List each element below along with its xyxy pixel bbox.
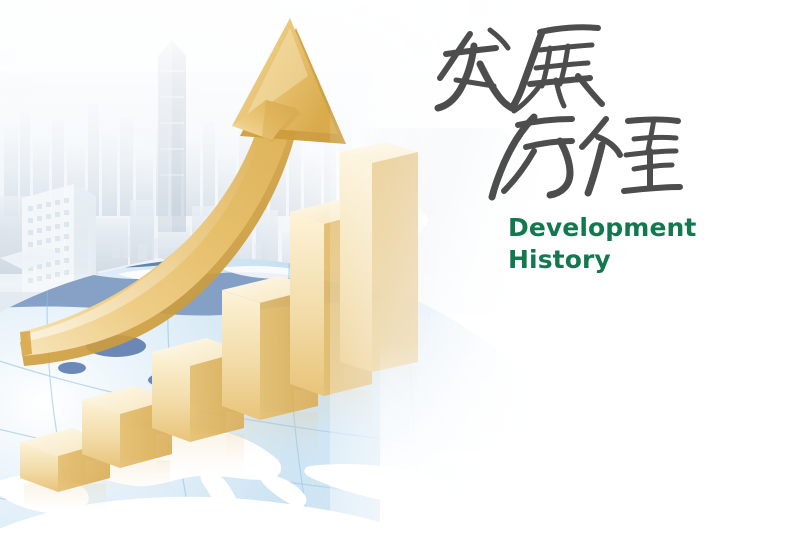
english-title-line-1: Development: [508, 212, 730, 244]
chinese-title-line-2: [488, 107, 730, 202]
english-title-line-2: History: [508, 244, 730, 276]
english-title: Development History: [508, 212, 730, 276]
chinese-title-line-1: [430, 18, 730, 113]
title-block: Development History: [430, 18, 730, 276]
development-history-banner: Development History: [0, 0, 800, 540]
world-globe-graphic: [0, 248, 580, 540]
